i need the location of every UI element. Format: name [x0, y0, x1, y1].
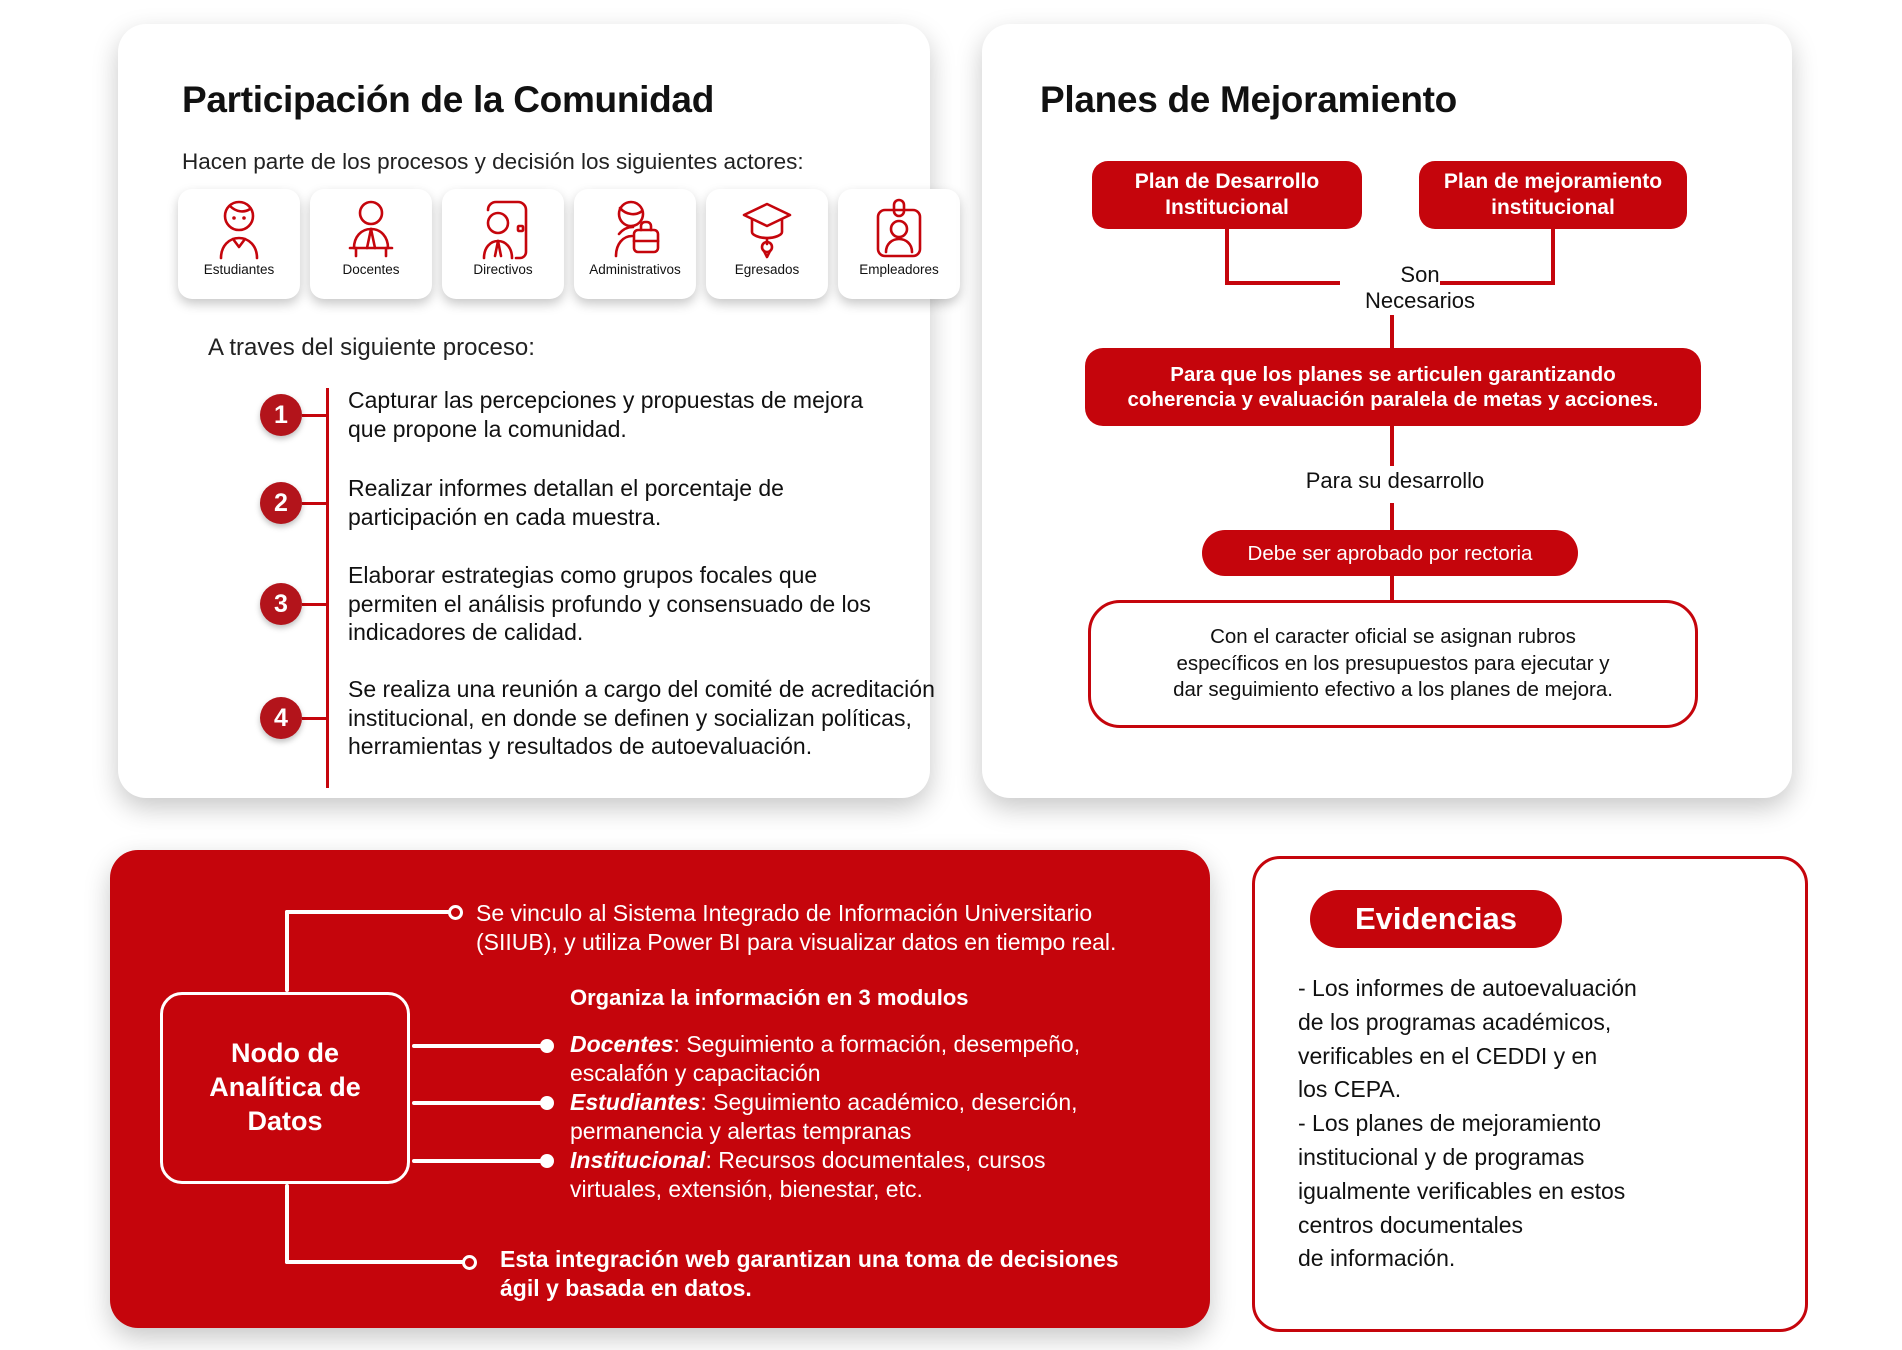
rectoria-approval-pill: Debe ser aprobado por rectoria: [1202, 530, 1578, 576]
actor-card-administrativos[interactable]: Administrativos: [574, 189, 696, 299]
process-step-2: 2 Realizar informes detallan el porcenta…: [268, 470, 968, 536]
official-budget-outcome-box: Con el caracter oficial se asignan rubro…: [1088, 600, 1698, 728]
connector-pdi-down: [1225, 229, 1229, 285]
step-tick: [302, 502, 328, 505]
articulate-plans-box: Para que los planes se articulen garanti…: [1085, 348, 1701, 426]
node-endpoint-dot-institucional: [540, 1154, 554, 1168]
node-endpoint-dot-estudiantes: [540, 1096, 554, 1110]
community-panel-title: Participación de la Comunidad: [182, 79, 714, 121]
evidence-title-badge: Evidencias: [1310, 890, 1562, 948]
teacher-icon: [342, 198, 400, 260]
process-step-list: 1 Capturar las percepciones y propuestas…: [268, 382, 968, 786]
connector-to-articulate: [1390, 315, 1394, 351]
actor-label: Empleadores: [859, 263, 939, 278]
connector-pmi-down: [1551, 229, 1555, 285]
connector-desarrollo-down: [1390, 503, 1394, 533]
node-branch-top-vertical: [285, 910, 289, 992]
plan-mejoramiento-institucional-pill[interactable]: Plan de mejoramiento institucional: [1419, 161, 1687, 229]
node-branch-top-horizontal: [285, 910, 450, 914]
node-bottom-description: Esta integración web garantizan una toma…: [500, 1245, 1200, 1304]
node-module-docentes: Docentes: Seguimiento a formación, desem…: [570, 1030, 1170, 1089]
actor-card-directivos[interactable]: Directivos: [442, 189, 564, 299]
node-branch-docentes: [412, 1044, 542, 1048]
actor-card-row: Estudiantes Docentes: [178, 189, 960, 299]
node-modules-header: Organiza la información en 3 modulos: [570, 985, 969, 1011]
node-module-estudiantes: Estudiantes: Seguimiento académico, dese…: [570, 1088, 1170, 1147]
step-tick: [302, 414, 328, 417]
step-number-badge: 3: [260, 583, 302, 625]
actor-label: Estudiantes: [204, 263, 275, 278]
module-label-docentes: Docentes: [570, 1031, 674, 1057]
process-intro-text: A traves del siguiente proceso:: [208, 334, 535, 362]
module-label-estudiantes: Estudiantes: [570, 1089, 700, 1115]
node-module-institucional: Institucional: Recursos documentales, cu…: [570, 1146, 1170, 1205]
actor-card-empleadores[interactable]: Empleadores: [838, 189, 960, 299]
node-endpoint-dot-docentes: [540, 1039, 554, 1053]
node-endpoint-dot-top: [448, 905, 463, 920]
node-branch-bottom-horizontal: [285, 1260, 465, 1264]
module-label-institucional: Institucional: [570, 1147, 705, 1173]
node-branch-institucional: [412, 1159, 542, 1163]
connector-pdi-right: [1225, 281, 1340, 285]
community-panel-subtitle: Hacen parte de los procesos y decisión l…: [182, 149, 804, 175]
actor-label: Directivos: [473, 263, 532, 278]
actor-card-estudiantes[interactable]: Estudiantes: [178, 189, 300, 299]
step-text: Se realiza una reunión a cargo del comit…: [348, 675, 935, 761]
plans-panel-title: Planes de Mejoramiento: [1040, 79, 1457, 121]
actor-label: Docentes: [342, 263, 399, 278]
actor-card-docentes[interactable]: Docentes: [310, 189, 432, 299]
connector-articulate-down: [1390, 426, 1394, 466]
node-endpoint-dot-bottom: [462, 1255, 477, 1270]
step-tick: [302, 717, 328, 720]
flow-label-son-necesarios: Son Necesarios: [1330, 262, 1510, 314]
step-text: Capturar las percepciones y propuestas d…: [348, 386, 863, 444]
staff-icon: [606, 198, 664, 260]
infographic-board: Participación de la Comunidad Hacen part…: [0, 0, 1902, 1350]
process-step-4: 4 Se realiza una reunión a cargo del com…: [268, 672, 968, 764]
step-number-badge: 4: [260, 697, 302, 739]
employer-badge-icon: [870, 198, 928, 260]
data-node-title-box: Nodo de Analítica de Datos: [160, 992, 410, 1184]
process-step-3: 3 Elaborar estrategias como grupos focal…: [268, 558, 968, 650]
actor-label: Administrativos: [589, 263, 681, 278]
step-number-badge: 2: [260, 482, 302, 524]
flow-label-para-su-desarrollo: Para su desarrollo: [1250, 468, 1540, 494]
actor-card-egresados[interactable]: Egresados: [706, 189, 828, 299]
community-participation-panel: Participación de la Comunidad Hacen part…: [118, 24, 930, 798]
node-branch-bottom-vertical: [285, 1184, 289, 1264]
node-top-description: Se vinculo al Sistema Integrado de Infor…: [476, 899, 1176, 958]
director-icon: [474, 198, 532, 260]
student-icon: [210, 198, 268, 260]
actor-label: Egresados: [735, 263, 800, 278]
evidence-body-text: - Los informes de autoevaluación de los …: [1298, 972, 1778, 1276]
process-step-1: 1 Capturar las percepciones y propuestas…: [268, 382, 968, 448]
step-number-badge: 1: [260, 394, 302, 436]
node-branch-estudiantes: [412, 1101, 542, 1105]
graduate-icon: [738, 198, 796, 260]
step-text: Elaborar estrategias como grupos focales…: [348, 561, 871, 647]
step-text: Realizar informes detallan el porcentaje…: [348, 474, 784, 532]
plan-desarrollo-institucional-pill[interactable]: Plan de Desarrollo Institucional: [1092, 161, 1362, 229]
step-tick: [302, 603, 328, 606]
